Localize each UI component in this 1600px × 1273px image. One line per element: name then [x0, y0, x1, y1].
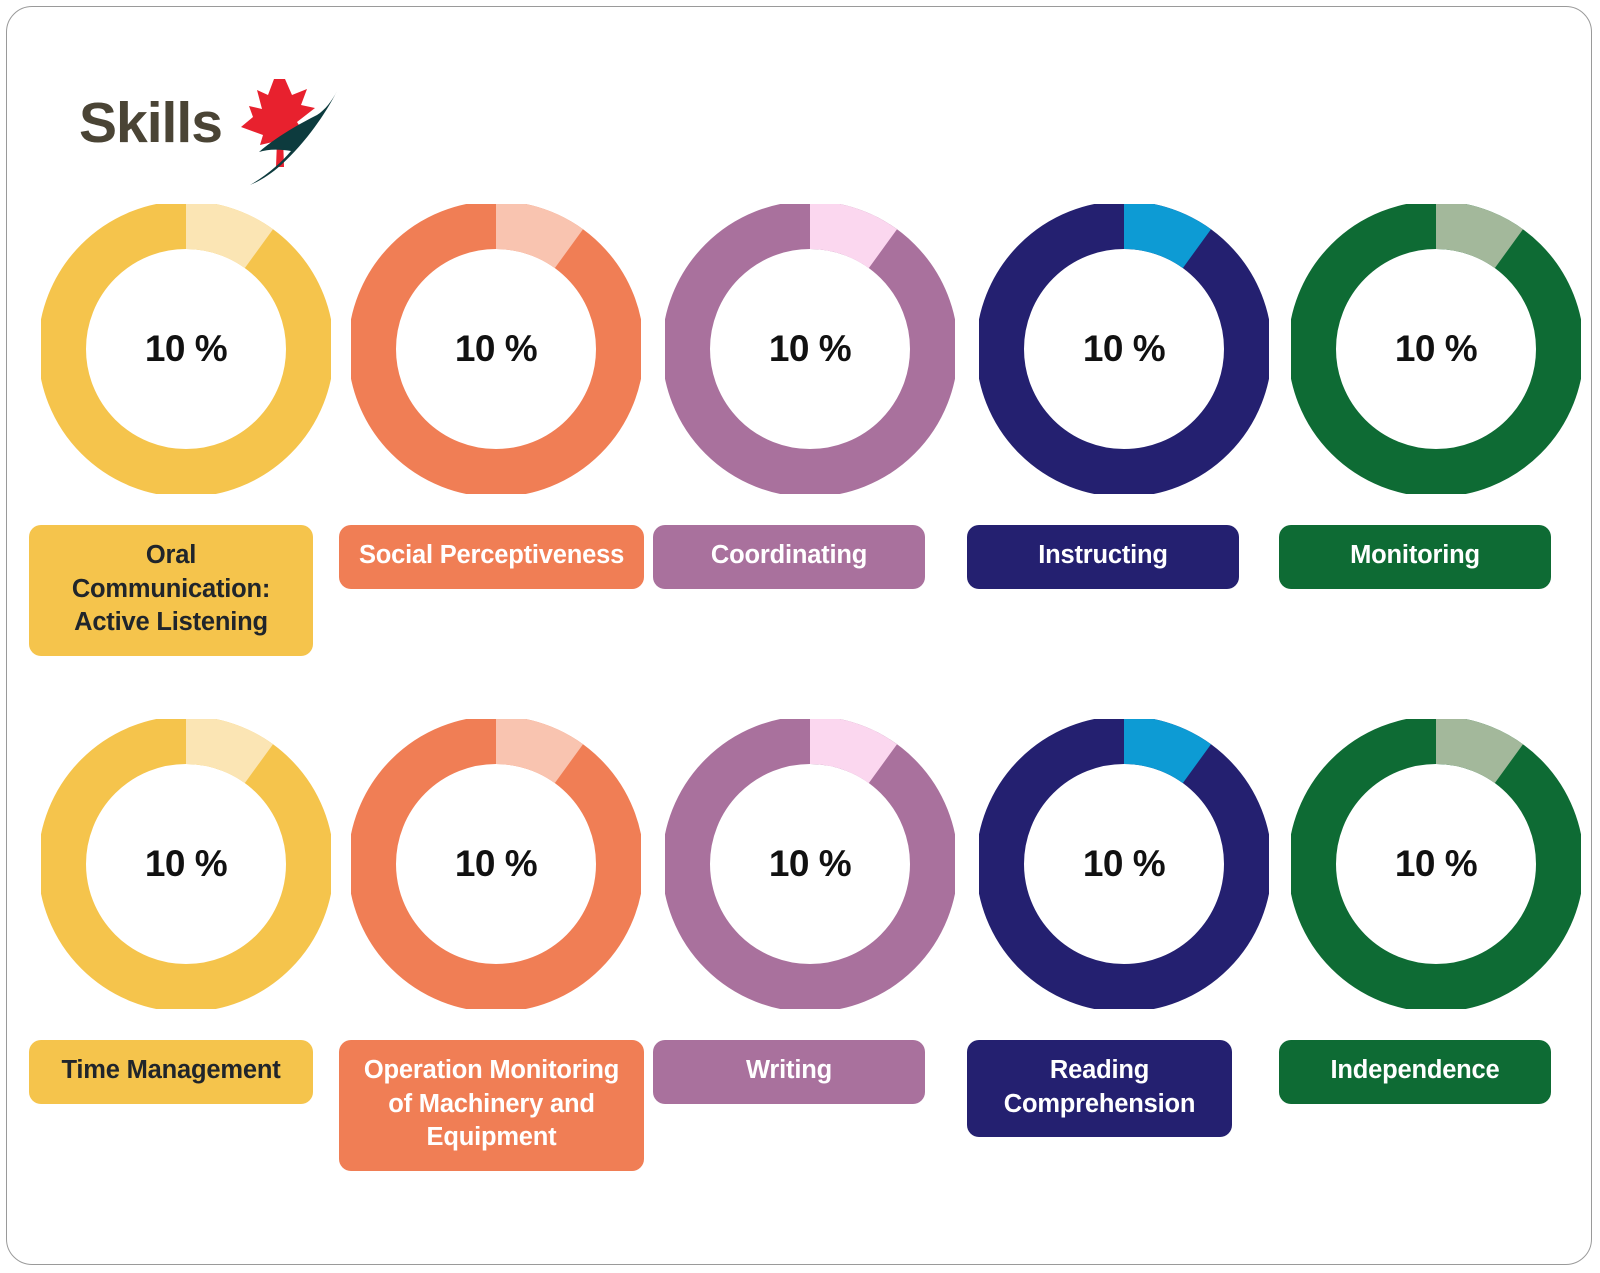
- donut-chart-card: 10 %Social Perceptiveness: [339, 204, 653, 589]
- donut-svg: [979, 719, 1269, 1009]
- donut-chart: 10 %: [1291, 204, 1581, 494]
- donut-chart: 10 %: [351, 719, 641, 1009]
- donut-chart: 10 %: [979, 719, 1269, 1009]
- donut-chart-grid: 10 %Oral Communication: Active Listening…: [7, 7, 1591, 1264]
- skill-label[interactable]: Reading Comprehension: [967, 1040, 1232, 1137]
- donut-svg: [41, 204, 331, 494]
- skills-card: Skills 10 %Oral Communication: Active Li…: [6, 6, 1592, 1265]
- donut-remainder-arc: [372, 225, 620, 473]
- donut-chart-card: 10 %Reading Comprehension: [967, 719, 1281, 1137]
- donut-svg: [41, 719, 331, 1009]
- skill-label[interactable]: Writing: [653, 1040, 925, 1104]
- donut-chart-card: 10 %Coordinating: [653, 204, 967, 589]
- donut-chart-card: 10 %Writing: [653, 719, 967, 1104]
- skill-label[interactable]: Oral Communication: Active Listening: [29, 525, 313, 656]
- donut-label-holder: Coordinating: [653, 525, 967, 589]
- skill-label[interactable]: Time Management: [29, 1040, 313, 1104]
- donut-chart-card: 10 %Independence: [1279, 719, 1593, 1104]
- donut-chart: 10 %: [41, 719, 331, 1009]
- donut-label-holder: Instructing: [967, 525, 1281, 589]
- donut-chart: 10 %: [1291, 719, 1581, 1009]
- skill-label[interactable]: Social Perceptiveness: [339, 525, 644, 589]
- donut-label-holder: Operation Monitoring of Machinery and Eq…: [339, 1040, 653, 1171]
- donut-svg: [351, 204, 641, 494]
- donut-chart: 10 %: [665, 719, 955, 1009]
- donut-svg: [1291, 204, 1581, 494]
- donut-remainder-arc: [686, 225, 934, 473]
- skill-label[interactable]: Coordinating: [653, 525, 925, 589]
- donut-remainder-arc: [686, 740, 934, 988]
- donut-label-holder: Reading Comprehension: [967, 1040, 1281, 1137]
- skill-label[interactable]: Operation Monitoring of Machinery and Eq…: [339, 1040, 644, 1171]
- donut-label-holder: Monitoring: [1279, 525, 1593, 589]
- donut-svg: [665, 204, 955, 494]
- donut-chart-card: 10 %Operation Monitoring of Machinery an…: [339, 719, 653, 1171]
- donut-chart-card: 10 %Oral Communication: Active Listening: [29, 204, 343, 656]
- donut-chart: 10 %: [351, 204, 641, 494]
- donut-remainder-arc: [1312, 740, 1560, 988]
- skill-label[interactable]: Independence: [1279, 1040, 1551, 1104]
- donut-chart: 10 %: [665, 204, 955, 494]
- donut-remainder-arc: [1000, 740, 1248, 988]
- donut-svg: [665, 719, 955, 1009]
- donut-label-holder: Writing: [653, 1040, 967, 1104]
- donut-remainder-arc: [1000, 225, 1248, 473]
- donut-label-holder: Social Perceptiveness: [339, 525, 653, 589]
- donut-svg: [1291, 719, 1581, 1009]
- donut-remainder-arc: [62, 740, 310, 988]
- donut-chart-card: 10 %Instructing: [967, 204, 1281, 589]
- donut-label-holder: Oral Communication: Active Listening: [29, 525, 343, 656]
- donut-svg: [979, 204, 1269, 494]
- donut-remainder-arc: [372, 740, 620, 988]
- donut-svg: [351, 719, 641, 1009]
- donut-chart-card: 10 %Time Management: [29, 719, 343, 1104]
- donut-remainder-arc: [62, 225, 310, 473]
- donut-chart: 10 %: [979, 204, 1269, 494]
- donut-remainder-arc: [1312, 225, 1560, 473]
- donut-chart: 10 %: [41, 204, 331, 494]
- skill-label[interactable]: Instructing: [967, 525, 1239, 589]
- skill-label[interactable]: Monitoring: [1279, 525, 1551, 589]
- donut-label-holder: Independence: [1279, 1040, 1593, 1104]
- donut-label-holder: Time Management: [29, 1040, 343, 1104]
- donut-chart-card: 10 %Monitoring: [1279, 204, 1593, 589]
